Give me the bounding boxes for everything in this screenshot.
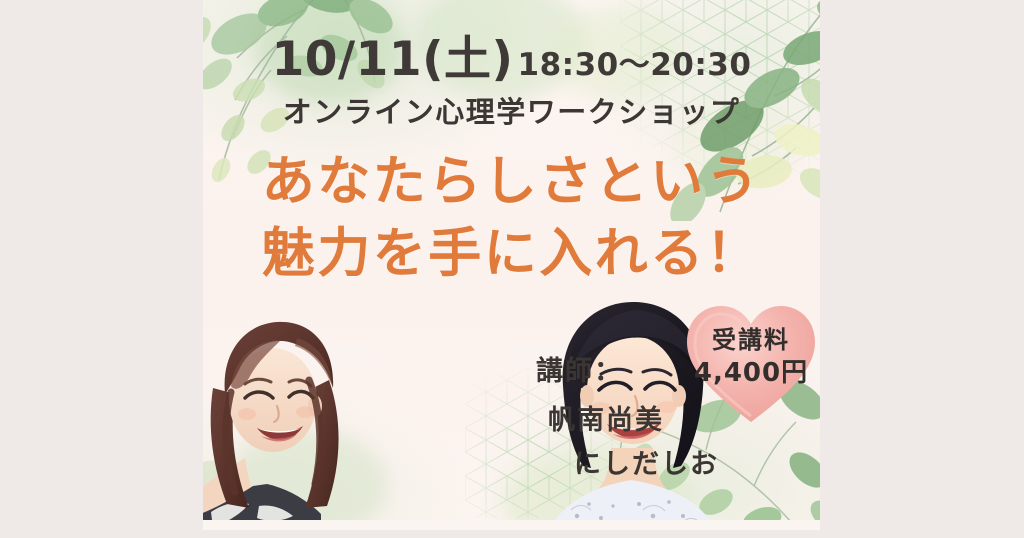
event-date-row: 10/11(土) 18:30～20:30 — [203, 20, 820, 89]
headline-line-1: あなたらしさという — [203, 146, 820, 218]
instructor-credit: 講師： 帆南尚美 にしだしお — [536, 352, 746, 486]
event-subtitle: オンライン心理学ワークショップ — [203, 89, 820, 131]
event-poster: 受講料 4,400円 10/11(土) 18:30～20:30 オンライン心理学… — [203, 0, 820, 530]
instructor-name: 帆南尚美 — [548, 401, 746, 442]
screenshot-canvas: 受講料 4,400円 10/11(土) 18:30～20:30 オンライン心理学… — [0, 0, 1024, 538]
instructor-kana: にしだしお — [574, 445, 746, 486]
event-date: 10/11(土) — [272, 20, 514, 89]
poster-text-layer: 10/11(土) 18:30～20:30 オンライン心理学ワークショップ あなた… — [203, 0, 820, 530]
headline-line-2: 魅力を手に入れる！ — [203, 218, 820, 290]
event-headline: あなたらしさという 魅力を手に入れる！ — [203, 146, 820, 289]
event-time: 18:30～20:30 — [518, 39, 752, 84]
instructor-label: 講師： — [536, 352, 746, 393]
